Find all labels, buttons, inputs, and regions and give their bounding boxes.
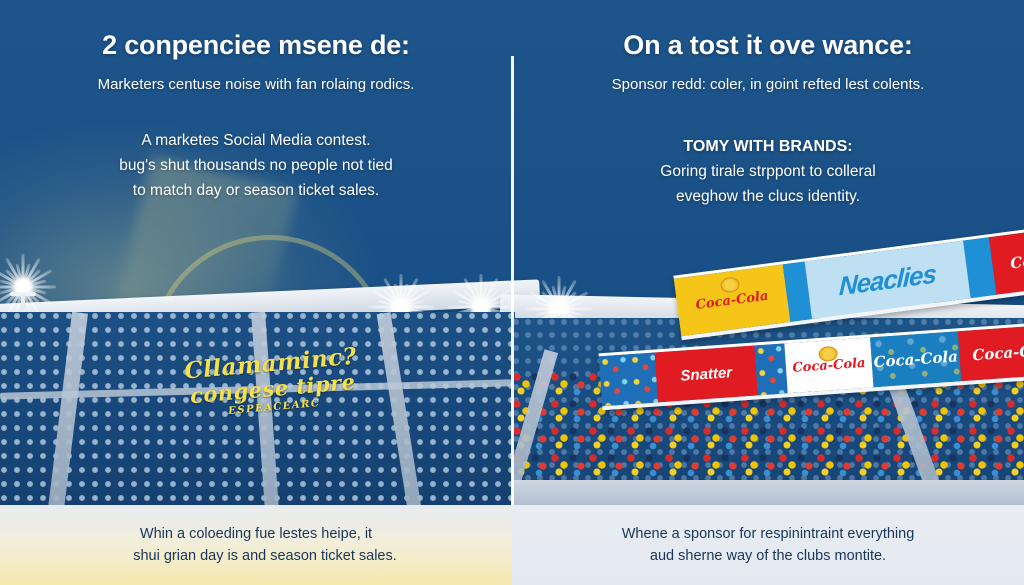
- right-headline: On a tost it ove wance:: [542, 30, 994, 61]
- sponsor-logo-text: Neaclies: [839, 258, 937, 302]
- sponsor-panel-coca-cola: Coca-Cola: [784, 337, 873, 393]
- right-footer-caption: Whene a sponsor for respinintraint every…: [512, 505, 1024, 585]
- left-detail-line2: bug's shut thousands no people not tied: [26, 154, 486, 177]
- right-detail-line2: eveghow the clucs identity.: [538, 185, 998, 208]
- right-footer-line2: aud sherne way of the clubs montite.: [650, 545, 886, 567]
- left-footer-line2: shui grian day is and season ticket sale…: [133, 545, 397, 567]
- sponsor-logo-text: Snatter: [680, 364, 733, 385]
- left-subline: Marketers centuse noise with fan rolaing…: [26, 75, 486, 95]
- right-detail-title: TOMY WITH BRANDS:: [538, 135, 998, 158]
- sponsor-panel-coca-cola: Coca-Cola: [674, 264, 791, 336]
- left-footer-caption: Whin a coloeding fue lestes heipe, it sh…: [0, 505, 512, 585]
- sponsor-logo-text: Coca-Cola: [873, 347, 958, 371]
- right-detail-block: TOMY WITH BRANDS: Goring tirale strppont…: [512, 135, 1024, 209]
- infographic-canvas: 2 conpenciee msene de: Marketers centuse…: [0, 0, 1024, 585]
- sponsor-logo-text: Coca-Cola: [1009, 244, 1024, 273]
- sponsor-panel-pattern: [754, 343, 787, 395]
- left-headline: 2 conpenciee msene de:: [30, 30, 482, 61]
- left-detail-line1: A marketes Social Media contest.: [26, 129, 486, 152]
- sponsor-panel-pattern: [599, 353, 658, 407]
- sponsor-panel-snatter: Snatter: [655, 346, 758, 403]
- left-detail-block: A marketes Social Media contest. bug's s…: [0, 129, 512, 203]
- left-footer-line1: Whin a coloeding fue lestes heipe, it: [140, 523, 372, 545]
- sponsor-logo-text: Coca-Cola: [972, 340, 1024, 364]
- right-subline: Sponsor redd: coler, in goint refted les…: [538, 75, 998, 95]
- left-detail-line3: to match day or season ticket sales.: [26, 179, 486, 202]
- sponsor-panel-coca-cola: Coca-Cola: [958, 324, 1024, 382]
- pitch-side-wall: [512, 480, 1024, 508]
- right-footer-line1: Whene a sponsor for respinintraint every…: [622, 523, 915, 545]
- sponsor-panel-coca-cola: Coca-Cola: [870, 331, 961, 387]
- right-detail-line1: Goring tirale strppont to colleral: [538, 160, 998, 183]
